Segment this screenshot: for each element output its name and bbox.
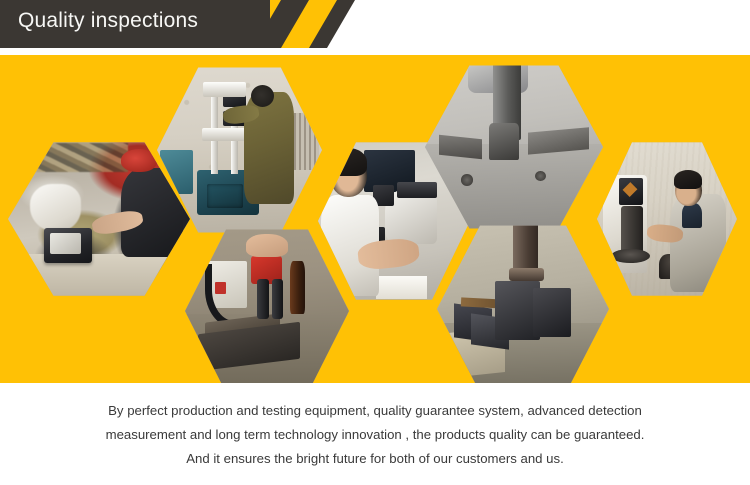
photo-stud-welding-inspection — [185, 227, 349, 395]
footer-description: By perfect production and testing equipm… — [0, 383, 750, 485]
footer-line-3: And it ensures the bright future for bot… — [0, 447, 750, 471]
footer-line-1: By perfect production and testing equipm… — [0, 399, 750, 423]
hex-ultrasonic-flaw-detector[interactable] — [8, 140, 190, 298]
hexagon-photo-gallery — [0, 55, 750, 383]
photo-ultrasonic-flaw-detector — [8, 140, 190, 298]
hex-hardness-tester[interactable] — [597, 140, 737, 298]
page-title: Quality inspections — [18, 9, 198, 33]
hex-stud-welding-inspection[interactable] — [185, 227, 349, 395]
photo-v-block-fixture-check — [437, 223, 609, 395]
hex-v-block-fixture-check[interactable] — [437, 223, 609, 395]
photo-hardness-tester — [597, 140, 737, 298]
quality-inspections-banner: Quality inspections — [0, 0, 750, 485]
footer-line-2: measurement and long term technology inn… — [0, 423, 750, 447]
